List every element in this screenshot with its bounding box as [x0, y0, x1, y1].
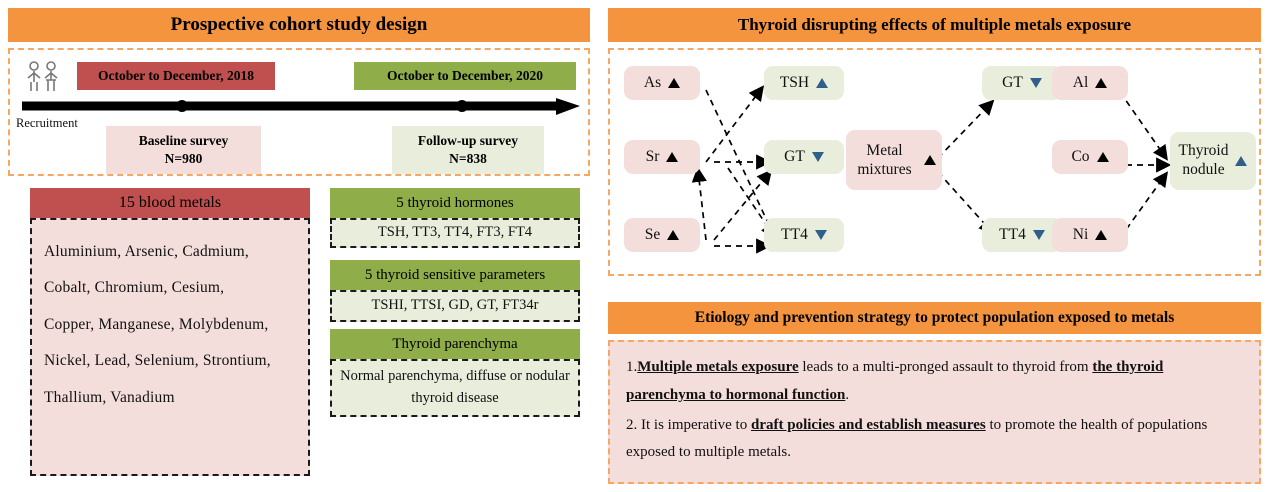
blood-metals-header: 15 blood metals [30, 188, 310, 218]
body-text: leads to a multi-pronged assault to thyr… [799, 359, 1093, 375]
up-triangle-icon [816, 78, 828, 88]
up-triangle-icon [667, 230, 679, 240]
left-panel-title: Prospective cohort study design [8, 8, 590, 42]
metals-line: Thallium, Vanadium [44, 380, 298, 416]
thyroid-parenchyma-list: Normal parenchyma, diffuse or nodular th… [330, 359, 580, 417]
node-label-line2: nodule [1182, 161, 1224, 178]
metals-line: Aluminium, Arsenic, Cadmium, [44, 234, 298, 270]
node-label: Al [1073, 74, 1089, 92]
body-text: . [845, 387, 849, 403]
point-number: 1. [626, 359, 637, 375]
point-number: 2. [626, 417, 641, 433]
node-label: GT [1002, 74, 1023, 92]
up-triangle-icon [1235, 156, 1247, 166]
two-people-icon [22, 60, 64, 94]
node-label: TT4 [999, 226, 1026, 244]
date-chip-baseline: October to December, 2018 [77, 62, 275, 90]
node-tt4-2[interactable]: TT4 [982, 218, 1062, 252]
node-sr[interactable]: Sr [624, 140, 700, 174]
blood-metals-card: 15 blood metals Aluminium, Arsenic, Cadm… [30, 188, 310, 476]
node-label: Se [645, 226, 661, 244]
node-tsh[interactable]: TSH [764, 66, 844, 100]
up-triangle-icon [1095, 230, 1107, 240]
down-triangle-icon [815, 230, 827, 240]
survey-chip-followup: Follow-up survey N=838 [392, 126, 544, 174]
date-chip-followup: October to December, 2020 [354, 62, 576, 90]
thyroid-outcomes-card: 5 thyroid hormones TSH, TT3, TT4, FT3, F… [330, 188, 580, 417]
thyroid-parenchyma-header: Thyroid parenchyma [330, 329, 580, 359]
node-label: Thyroid nodule [1179, 142, 1229, 180]
up-triangle-icon [666, 152, 678, 162]
survey-n: N=980 [106, 150, 261, 168]
graphical-abstract: Prospective cohort study design October … [0, 0, 1269, 492]
thyroid-hormones-header: 5 thyroid hormones [330, 188, 580, 218]
emphasis-text: draft policies and establish measures [751, 417, 986, 433]
study-timeline: October to December, 2018 October to Dec… [8, 48, 590, 176]
node-tt4-1[interactable]: TT4 [764, 218, 844, 252]
node-label: TSH [780, 74, 809, 92]
metals-line: Copper, Manganese, Molybdenum, [44, 307, 298, 343]
node-thyroid-nodule[interactable]: Thyroid nodule [1170, 132, 1256, 190]
blood-metals-list: Aluminium, Arsenic, Cadmium, Cobalt, Chr… [30, 218, 310, 476]
down-triangle-icon [1033, 230, 1045, 240]
node-label: TT4 [781, 226, 808, 244]
conclusion-point-2: 2. It is imperative to draft policies an… [626, 412, 1243, 468]
thyroid-parameters-list: TSHI, TTSI, GD, GT, FT34r [330, 290, 580, 322]
emphasis-text: Multiple metals exposure [637, 359, 798, 375]
survey-name: Follow-up survey [392, 132, 544, 150]
node-label: GT [784, 148, 805, 166]
node-al[interactable]: Al [1052, 66, 1128, 100]
conclusions-text: 1.Multiple metals exposure leads to a mu… [608, 340, 1261, 484]
right-top-panel: Thyroid disrupting effects of multiple m… [608, 8, 1261, 276]
up-triangle-icon [668, 78, 680, 88]
node-co[interactable]: Co [1052, 140, 1128, 174]
timeline-axis-arrow [22, 98, 580, 120]
right-top-panel-title: Thyroid disrupting effects of multiple m… [608, 8, 1261, 42]
up-triangle-icon [924, 155, 936, 165]
spacer [330, 248, 580, 260]
node-label: Metal mixtures [852, 141, 917, 180]
right-bottom-panel-title: Etiology and prevention strategy to prot… [608, 302, 1261, 334]
left-panel: Prospective cohort study design October … [8, 8, 590, 484]
thyroid-hormones-list: TSH, TT3, TT4, FT3, FT4 [330, 218, 580, 248]
survey-chip-baseline: Baseline survey N=980 [106, 126, 261, 174]
down-triangle-icon [1030, 78, 1042, 88]
survey-name: Baseline survey [106, 132, 261, 150]
metals-line: Nickel, Lead, Selenium, Strontium, [44, 343, 298, 379]
spacer [330, 322, 580, 329]
node-gt-2[interactable]: GT [982, 66, 1062, 100]
node-metal-mixtures[interactable]: Metal mixtures [846, 130, 942, 190]
survey-n: N=838 [392, 150, 544, 168]
down-triangle-icon [812, 152, 824, 162]
node-gt-1[interactable]: GT [764, 140, 844, 174]
metals-thyroid-diagram: As Sr Se TSH GT TT4 [608, 48, 1261, 276]
conclusion-point-1: 1.Multiple metals exposure leads to a mu… [626, 354, 1243, 410]
node-label: Ni [1073, 226, 1089, 244]
node-se[interactable]: Se [624, 218, 700, 252]
right-bottom-panel: Etiology and prevention strategy to prot… [608, 302, 1261, 484]
node-ni[interactable]: Ni [1052, 218, 1128, 252]
node-label: Co [1071, 148, 1089, 166]
metals-line: Cobalt, Chromium, Cesium, [44, 270, 298, 306]
body-text: It is imperative to [641, 417, 751, 433]
up-triangle-icon [1095, 78, 1107, 88]
thyroid-parameters-header: 5 thyroid sensitive parameters [330, 260, 580, 290]
recruitment-label: Recruitment [16, 116, 78, 131]
node-label-line1: Thyroid [1179, 142, 1229, 159]
node-label: As [644, 74, 661, 92]
up-triangle-icon [1097, 152, 1109, 162]
node-as[interactable]: As [624, 66, 700, 100]
node-label: Sr [646, 148, 660, 166]
